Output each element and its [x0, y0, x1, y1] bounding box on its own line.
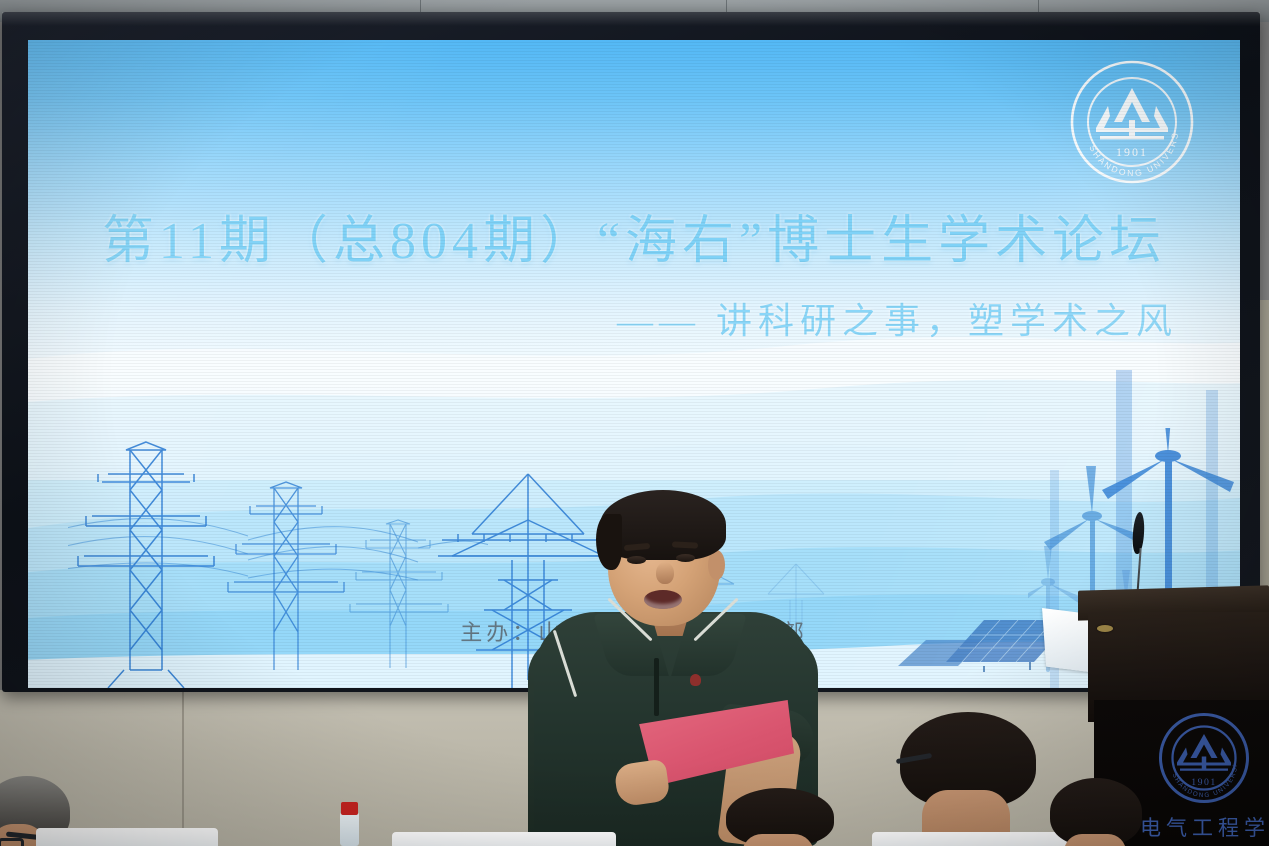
presenter-mouth [644, 590, 682, 609]
audience-table [392, 832, 616, 846]
bezel-highlight [2, 12, 1260, 26]
slide-subtitle: —— 讲科研之事，塑学术之风 [28, 292, 1178, 344]
bottle-cap [341, 802, 358, 815]
audience-neck [1064, 834, 1126, 846]
lecture-hall-scene: 1901 SHANDONG UNIVERSITY 第11期（总804期）“海右”… [0, 0, 1269, 846]
banner-department-label: 电气工程学院 [1140, 812, 1269, 842]
audience-table [36, 828, 218, 846]
glasses-lens [0, 838, 24, 846]
presenter-eye [676, 554, 695, 562]
presenter-hair-side [596, 514, 622, 570]
water-bottle [340, 812, 359, 846]
svg-text:1901: 1901 [1191, 777, 1217, 788]
shandong-university-logo: 1901 SHANDONG UNIVERSITY [1068, 58, 1196, 186]
presenter-shirt-placket [654, 658, 659, 716]
presenter-eyebrow [672, 541, 698, 548]
shirt-emblem [690, 674, 701, 686]
audience-neck [742, 834, 814, 846]
wall-seam [182, 690, 184, 846]
presenter-eye [627, 556, 646, 564]
audience-table [872, 832, 1082, 846]
shandong-university-logo: 1901 SHANDONG UNIVERSITY [1156, 710, 1252, 806]
svg-text:1901: 1901 [1116, 145, 1148, 159]
presenter-nose [656, 562, 674, 584]
podium-nameplate [1097, 625, 1113, 632]
slide-title: 第11期（总804期）“海右”博士生学术论坛 [28, 198, 1240, 273]
